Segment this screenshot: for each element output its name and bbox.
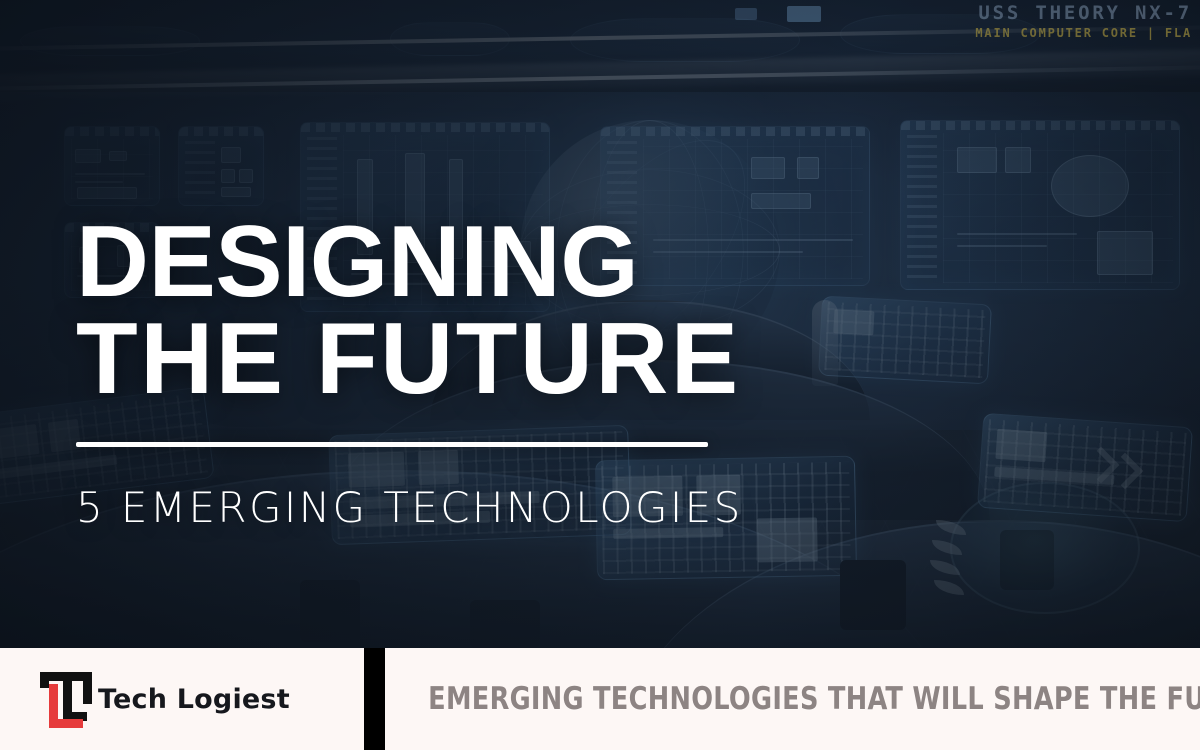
hero-text-block: DESIGNING THE FUTURE 5 EMERGING TECHNOLO… bbox=[76, 214, 776, 532]
title-divider-rule bbox=[76, 442, 708, 447]
hud-ship-label: USS THEORY NX-7 bbox=[975, 2, 1192, 24]
tech-logiest-logo-icon bbox=[38, 668, 94, 730]
hud-labels: USS THEORY NX-7 MAIN COMPUTER CORE | FLA bbox=[975, 0, 1200, 40]
caption-text: EMERGING TECHNOLOGIES THAT WILL SHAPE TH… bbox=[428, 681, 1200, 717]
bottom-bar: Tech Logiest EMERGING TECHNOLOGIES THAT … bbox=[0, 648, 1200, 750]
hero-banner: USS THEORY NX-7 MAIN COMPUTER CORE | FLA… bbox=[0, 0, 1200, 648]
slide-canvas: USS THEORY NX-7 MAIN COMPUTER CORE | FLA… bbox=[0, 0, 1200, 750]
logo-l-horizontal bbox=[49, 719, 83, 728]
logo-t-left-serif bbox=[40, 672, 49, 688]
hud-chip-icon bbox=[735, 8, 757, 20]
bar-divider bbox=[364, 648, 385, 750]
hud-chip-icon bbox=[787, 6, 821, 22]
page-title-line-1: DESIGNING bbox=[76, 214, 776, 311]
brand-block[interactable]: Tech Logiest bbox=[0, 648, 364, 750]
page-subtitle: 5 EMERGING TECHNOLOGIES bbox=[76, 483, 776, 532]
brand-name: Tech Logiest bbox=[98, 684, 290, 715]
hud-station-label: MAIN COMPUTER CORE | FLA bbox=[975, 26, 1192, 40]
caption-block: EMERGING TECHNOLOGIES THAT WILL SHAPE TH… bbox=[385, 681, 1200, 717]
logo-t-right-serif bbox=[83, 672, 92, 704]
page-title-line-2: THE FUTURE bbox=[76, 311, 776, 408]
